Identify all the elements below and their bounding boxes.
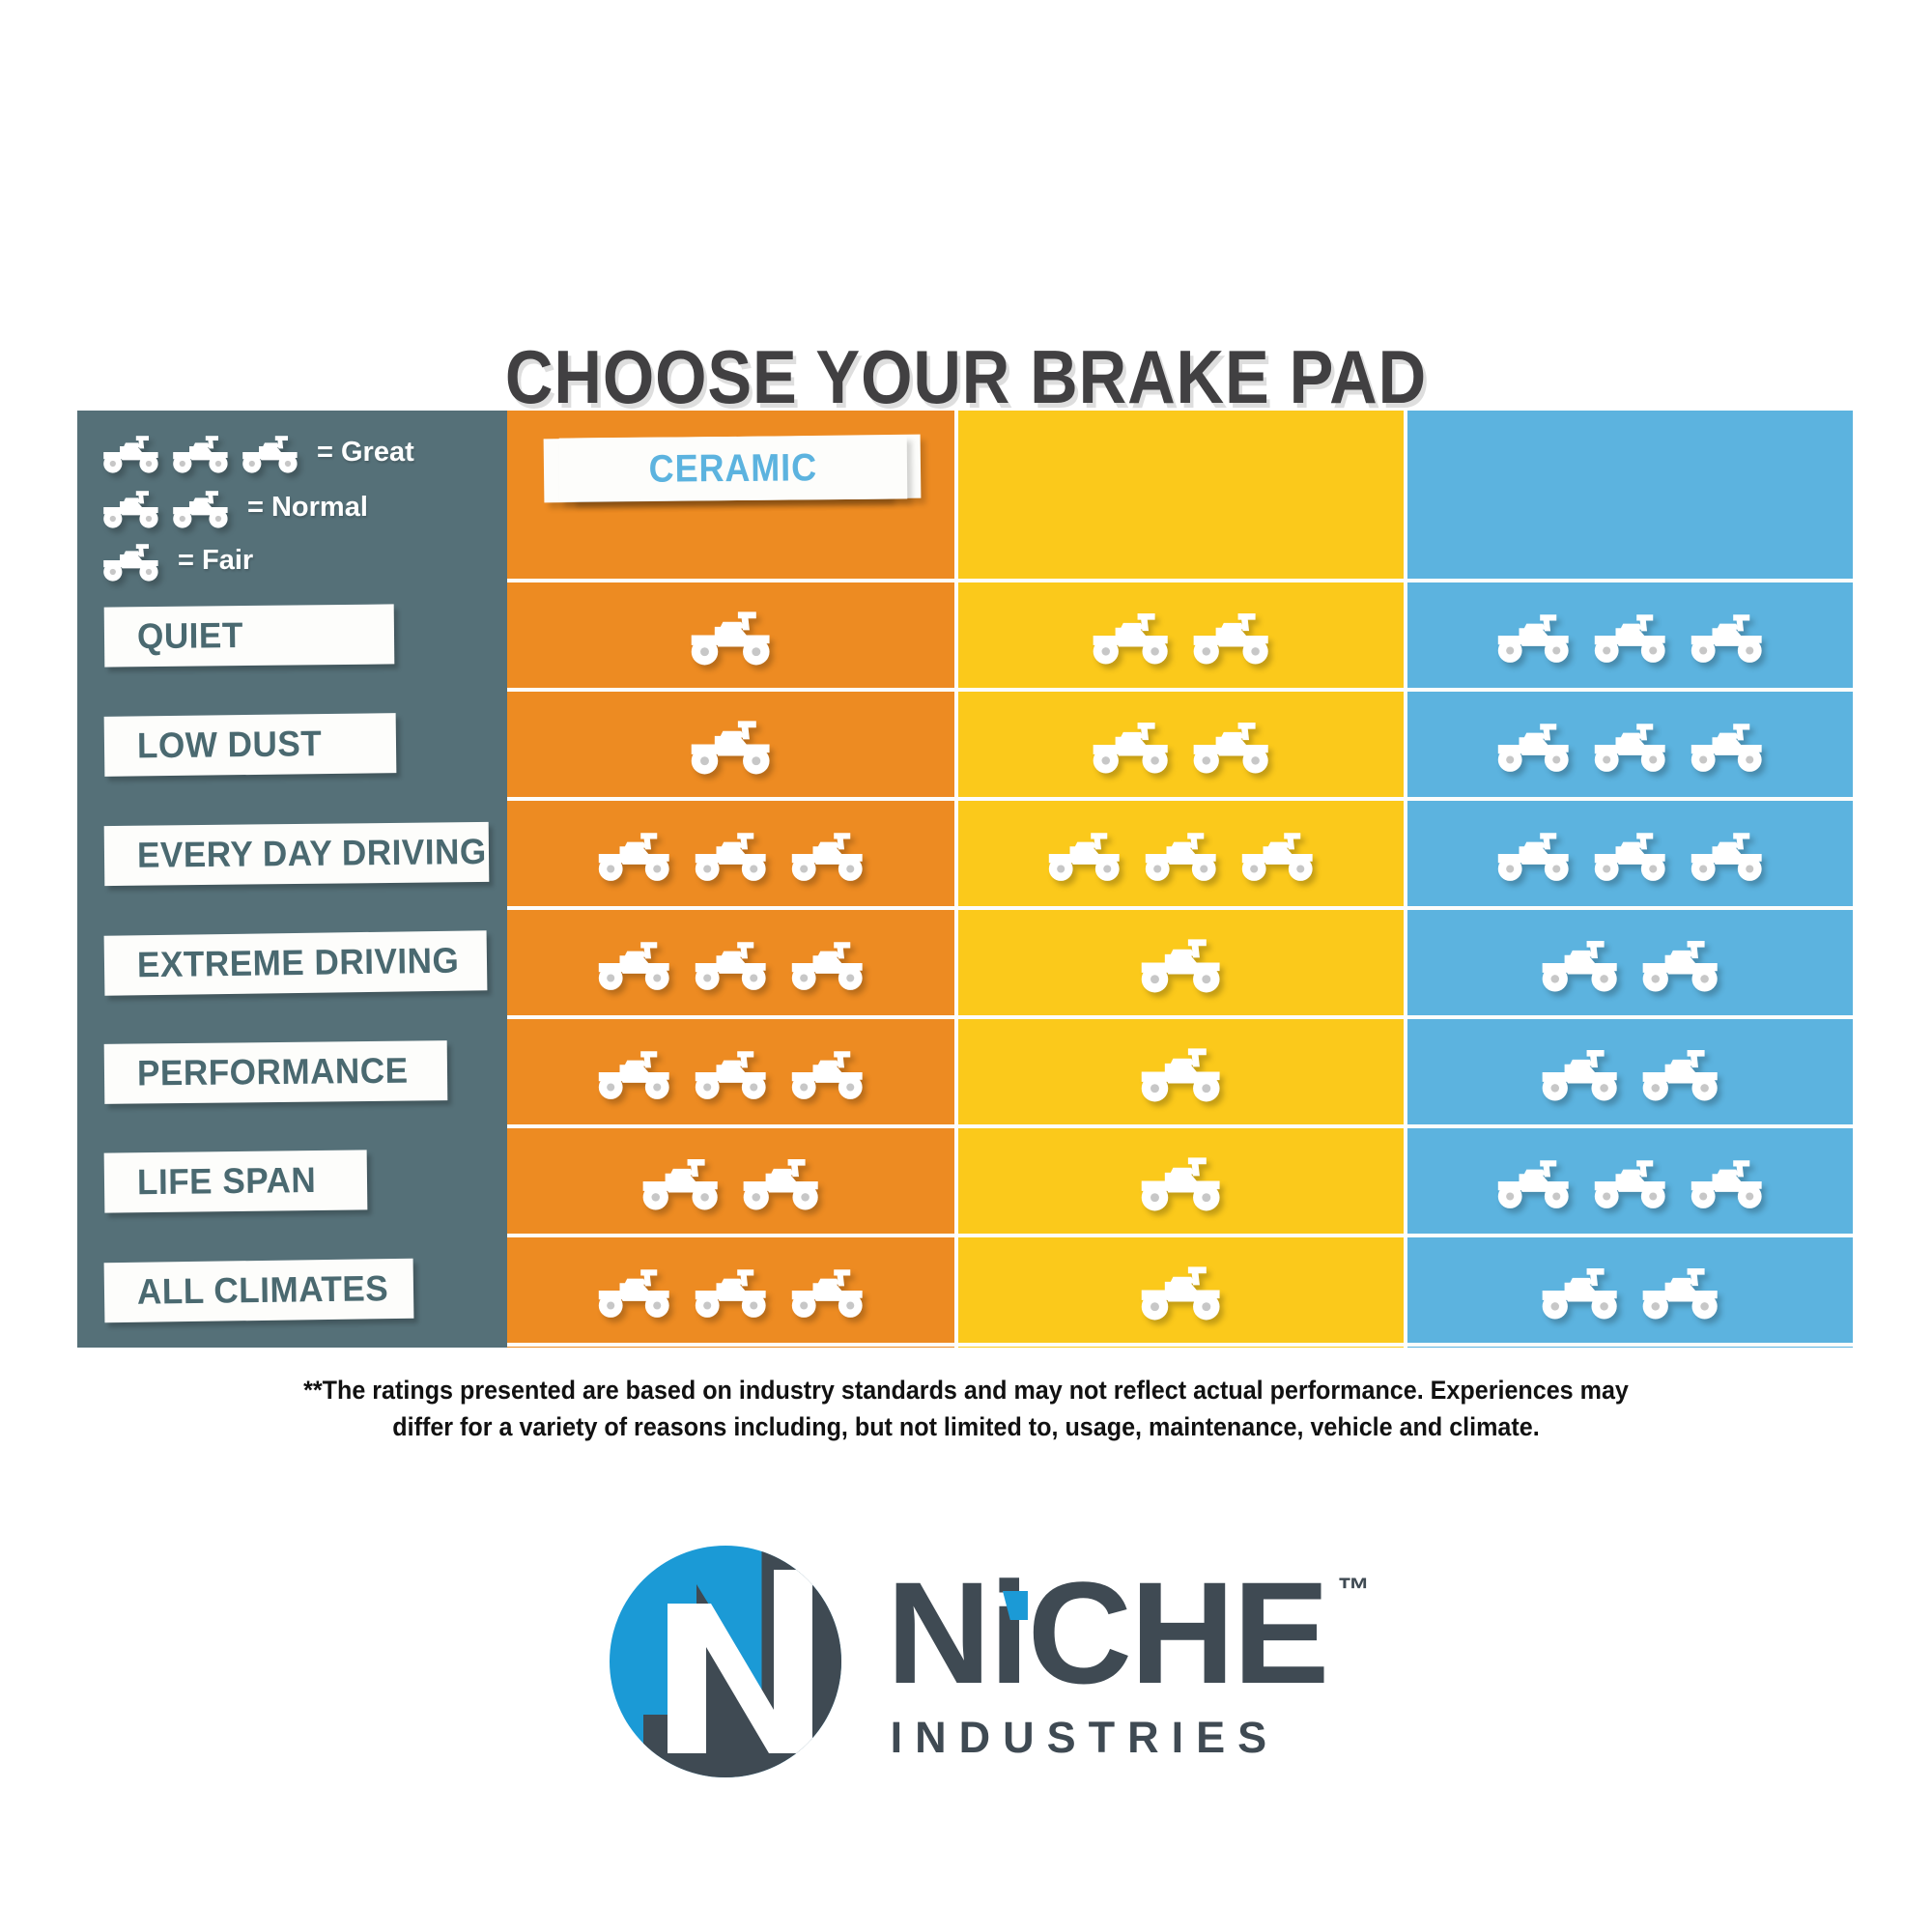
atv-rating-icon (690, 602, 773, 668)
atv-rating-icon (1092, 604, 1171, 668)
rating-cell (958, 1128, 1404, 1234)
atv-rating-icon (102, 484, 160, 530)
atv-rating-icon (1092, 713, 1171, 777)
rating-cell (1407, 582, 1853, 688)
rating-cell (958, 582, 1404, 688)
atv-rating-icon (690, 711, 773, 778)
disclaimer-text: **The ratings presented are based on ind… (297, 1372, 1635, 1446)
legend-item-normal: = Normal (102, 483, 368, 531)
atv-rating-icon (1593, 824, 1668, 884)
rating-cell (1407, 801, 1853, 906)
rating-cell (507, 1237, 954, 1343)
trademark-symbol: ™ (1337, 1576, 1370, 1605)
row-divider (507, 1015, 1853, 1019)
atv-rating-icon (1641, 931, 1720, 995)
row-label-quiet[interactable]: QUIET (104, 604, 395, 667)
atv-rating-icon (790, 824, 866, 884)
row-label-life-span[interactable]: LIFE SPAN (104, 1150, 368, 1212)
atv-rating-icon (790, 933, 866, 993)
rating-cell (958, 1019, 1404, 1124)
legend-item-fair: = Fair (102, 536, 253, 584)
row-label-every-day-driving[interactable]: EVERY DAY DRIVING (104, 822, 490, 886)
atv-rating-icon (641, 1150, 721, 1213)
atv-rating-icon (172, 484, 230, 530)
atv-rating-icon (1641, 1040, 1720, 1104)
atv-rating-icon (1240, 824, 1316, 884)
row-label-text: LIFE SPAN (137, 1160, 317, 1203)
atv-rating-icon (1541, 1040, 1620, 1104)
atv-rating-icon (1144, 824, 1219, 884)
atv-rating-icon (1140, 1148, 1223, 1214)
rating-cell (1407, 910, 1853, 1015)
row-label-all-climates[interactable]: ALL CLIMATES (104, 1259, 414, 1322)
rating-cell (507, 692, 954, 797)
atv-rating-icon (172, 429, 230, 475)
row-label-text: LOW DUST (137, 724, 323, 766)
atv-rating-icon (597, 1261, 672, 1321)
rating-cell (958, 910, 1404, 1015)
rating-cell (507, 582, 954, 688)
rating-cell (958, 692, 1404, 797)
atv-rating-icon (1593, 1151, 1668, 1211)
legend-label-great: = Great (317, 437, 414, 469)
wordmark-i-dot (1003, 1591, 1028, 1620)
legend-icons-great (102, 429, 311, 475)
atv-rating-icon (1641, 1259, 1720, 1322)
column-divider (1404, 411, 1407, 1348)
brand-logo: NiCHE ™ INDUSTRIES (0, 1521, 1932, 1802)
rating-cell (507, 910, 954, 1015)
atv-rating-icon (1496, 715, 1572, 775)
atv-rating-icon (1593, 606, 1668, 666)
column-divider (954, 411, 958, 1348)
legend-item-great: = Great (102, 428, 414, 476)
atv-rating-icon (241, 429, 299, 475)
rating-cell (1407, 1019, 1853, 1124)
atv-rating-icon (694, 1261, 769, 1321)
atv-rating-icon (742, 1150, 821, 1213)
niche-n-circle-icon (605, 1541, 846, 1782)
atv-rating-icon (1047, 824, 1122, 884)
wordmark-i: i (989, 1566, 1028, 1699)
column-header-ceramic[interactable]: CERAMIC (559, 435, 908, 501)
row-label-performance[interactable]: PERFORMANCE (104, 1040, 448, 1104)
atv-rating-icon (1496, 606, 1572, 666)
row-divider (507, 1234, 1853, 1237)
atv-rating-icon (1690, 715, 1765, 775)
legend-icons-fair (102, 537, 172, 583)
comparison-board: = Great = Normal = Fair QUIETLOW DUSTEVE… (77, 411, 1853, 1348)
rating-cell (507, 1128, 954, 1234)
wordmark-n: N (887, 1551, 989, 1714)
atv-rating-icon (1541, 1259, 1620, 1322)
row-label-text: ALL CLIMATES (137, 1268, 389, 1313)
row-label-text: EXTREME DRIVING (137, 941, 460, 986)
atv-rating-icon (1690, 1151, 1765, 1211)
row-label-text: PERFORMANCE (137, 1051, 409, 1094)
rating-legend: = Great = Normal = Fair (77, 411, 507, 575)
legend-label-normal: = Normal (247, 492, 368, 524)
rating-cell (1407, 1237, 1853, 1343)
ratings-grid: SEMI-METALLIC ORGANIC CERAMIC (507, 411, 1853, 1348)
atv-rating-icon (1496, 824, 1572, 884)
rating-cell (1407, 1128, 1853, 1234)
wordmark-che: CHE (1028, 1551, 1328, 1714)
atv-rating-icon (1192, 713, 1271, 777)
atv-rating-icon (1593, 715, 1668, 775)
atv-rating-icon (102, 537, 160, 583)
atv-rating-icon (597, 1042, 672, 1102)
sidebar-panel: = Great = Normal = Fair QUIETLOW DUSTEVE… (77, 411, 507, 1348)
atv-rating-icon (1192, 604, 1271, 668)
atv-rating-icon (1690, 824, 1765, 884)
atv-rating-icon (1541, 931, 1620, 995)
atv-rating-icon (1140, 929, 1223, 996)
rating-cell (507, 1019, 954, 1124)
row-divider (507, 906, 1853, 910)
row-label-text: EVERY DAY DRIVING (137, 832, 487, 876)
row-divider (507, 1124, 1853, 1128)
atv-rating-icon (1140, 1257, 1223, 1323)
atv-rating-icon (694, 1042, 769, 1102)
row-divider (507, 1343, 1853, 1347)
atv-rating-icon (1690, 606, 1765, 666)
row-divider (507, 688, 1853, 692)
legend-label-fair: = Fair (178, 545, 253, 577)
row-divider (507, 797, 1853, 801)
page-title: CHOOSE YOUR BRAKE PAD (116, 333, 1816, 421)
atv-rating-icon (790, 1261, 866, 1321)
atv-rating-icon (1496, 1151, 1572, 1211)
legend-icons-normal (102, 484, 241, 530)
atv-rating-icon (694, 824, 769, 884)
rating-cell (958, 1237, 1404, 1343)
row-label-extreme-driving[interactable]: EXTREME DRIVING (104, 930, 488, 996)
atv-rating-icon (1140, 1038, 1223, 1105)
row-divider (507, 579, 1853, 582)
brand-wordmark-block: NiCHE ™ INDUSTRIES (887, 1560, 1328, 1763)
column-header-label: CERAMIC (649, 446, 818, 492)
atv-rating-icon (597, 933, 672, 993)
row-label-text: QUIET (137, 615, 243, 657)
brand-subtitle: INDUSTRIES (887, 1713, 1328, 1763)
rating-cell (958, 801, 1404, 906)
rating-cell (1407, 692, 1853, 797)
row-label-low-dust[interactable]: LOW DUST (104, 713, 397, 777)
rating-cell (507, 801, 954, 906)
atv-rating-icon (102, 429, 160, 475)
brand-wordmark: NiCHE ™ (887, 1566, 1328, 1699)
atv-rating-icon (694, 933, 769, 993)
atv-rating-icon (597, 824, 672, 884)
atv-rating-icon (790, 1042, 866, 1102)
